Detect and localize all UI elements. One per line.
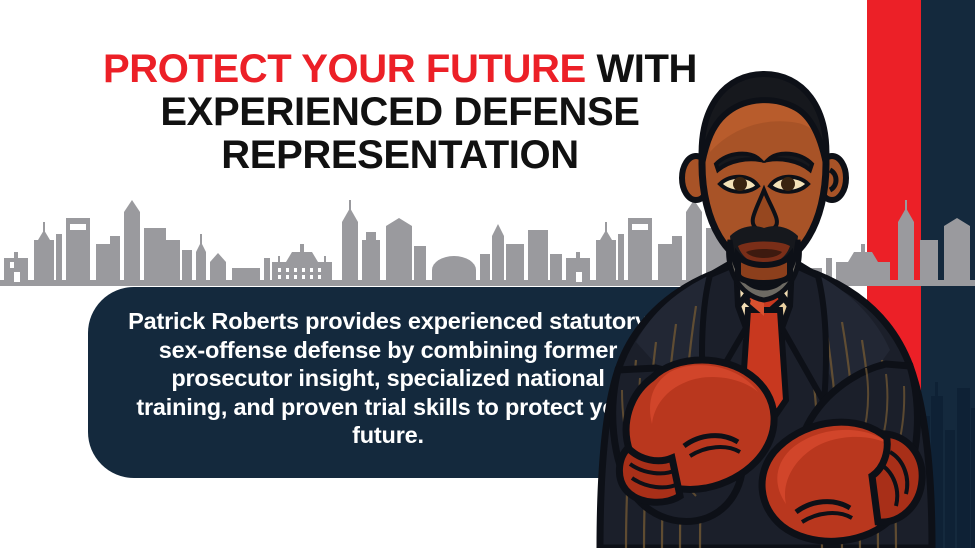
headline-highlight: PROTECT YOUR FUTURE [103, 47, 586, 91]
legal-ad-banner: PROTECT YOUR FUTURE WITH EXPERIENCED DEF… [0, 0, 975, 548]
attorney-illustration [560, 60, 975, 548]
